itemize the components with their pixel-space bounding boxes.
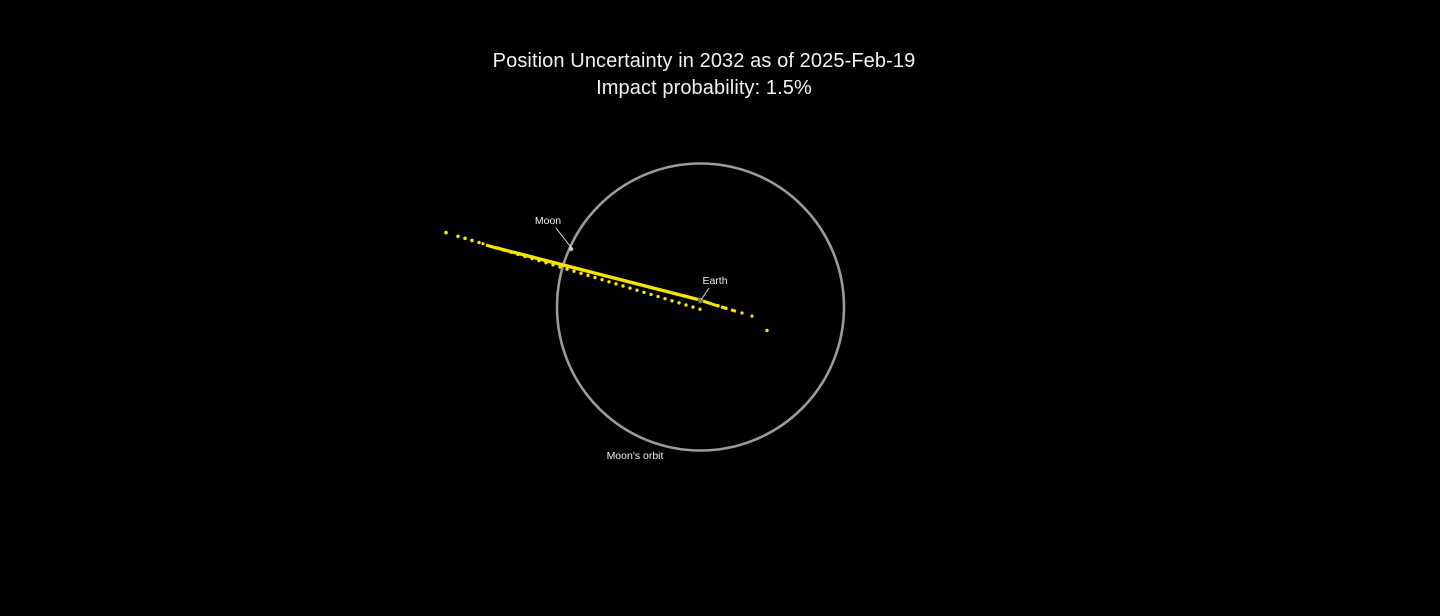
earth-leader-line [701,288,709,300]
visualization-canvas: Position Uncertainty in 2032 as of 2025-… [0,0,1440,616]
moon-label: Moon [535,215,561,227]
orbit-diagram: Moon Earth Moon's orbit [0,0,1440,616]
moon-orbit-label: Moon's orbit [607,450,664,462]
moon-leader-line [556,228,573,250]
earth-label: Earth [702,275,727,287]
moon-orbit-circle [557,164,844,451]
